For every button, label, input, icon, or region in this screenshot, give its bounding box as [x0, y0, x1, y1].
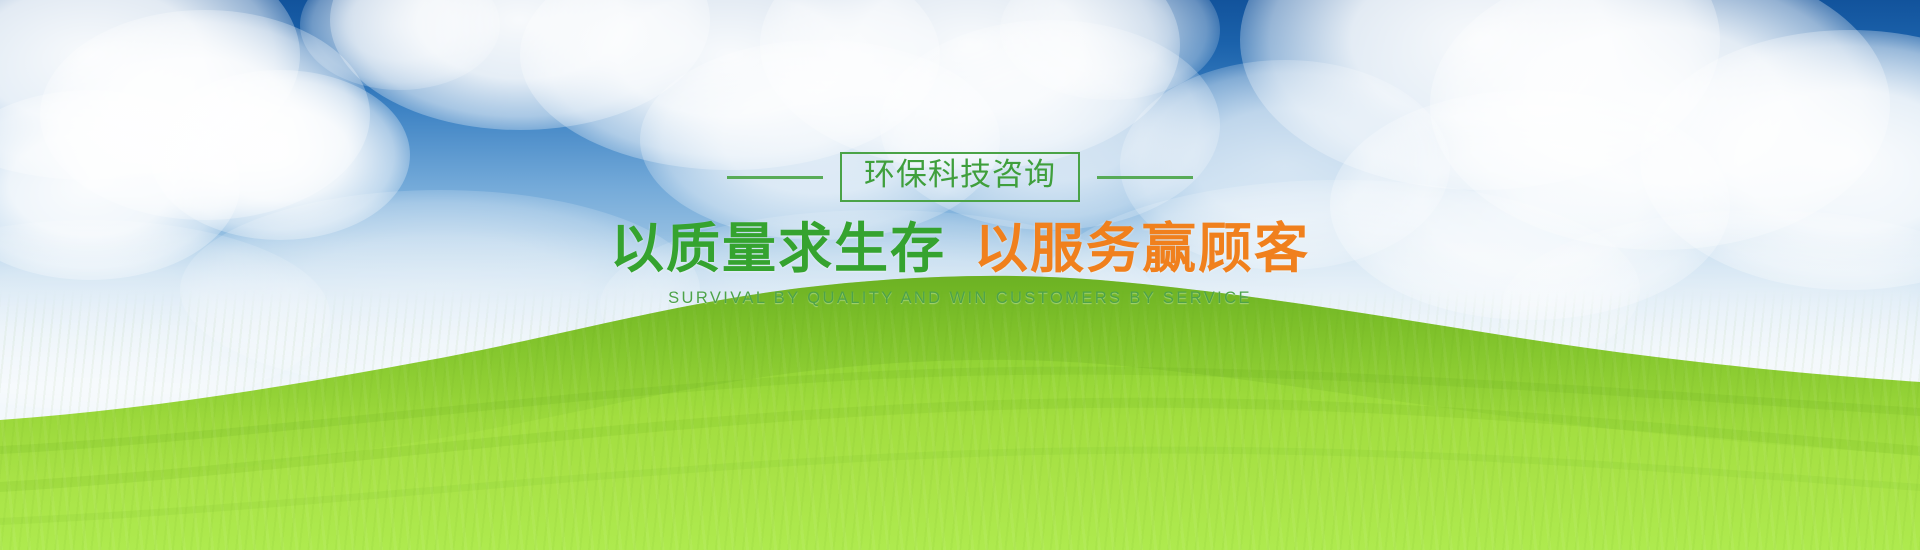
subtitle: SURVIVAL BY QUALITY AND WIN CUSTOMERS BY… [668, 289, 1252, 308]
decorative-rule-left-icon [727, 176, 823, 179]
decorative-rule-right-icon [1097, 176, 1193, 179]
eyebrow-box: 环保科技咨询 [840, 152, 1080, 202]
eyebrow-row: 环保科技咨询 [727, 152, 1193, 202]
headline-part-orange: 以服务赢顾客 [974, 218, 1310, 280]
headline-part-green: 以质量求生存 [610, 218, 946, 280]
eyebrow-label: 环保科技咨询 [864, 157, 1056, 193]
banner-content: 环保科技咨询 以质量求生存 以服务赢顾客 SURVIVAL BY QUALITY… [0, 0, 1920, 308]
hero-banner: 环保科技咨询 以质量求生存 以服务赢顾客 SURVIVAL BY QUALITY… [0, 0, 1920, 550]
headline: 以质量求生存 以服务赢顾客 [610, 218, 1310, 280]
